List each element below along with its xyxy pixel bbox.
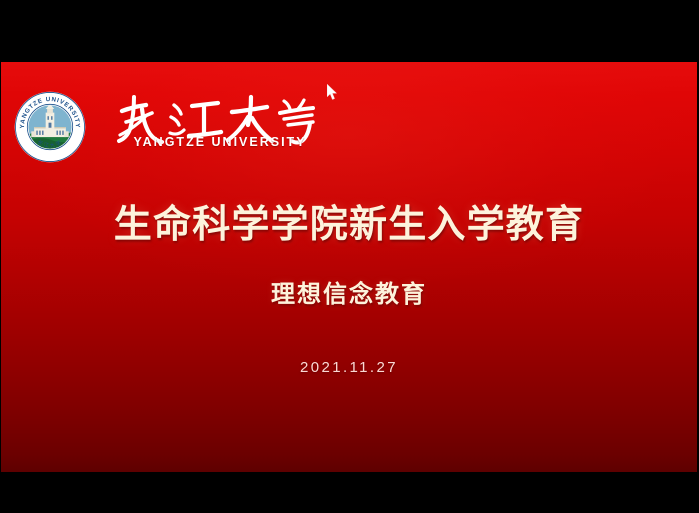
sub-title: 理想信念教育 — [1, 280, 697, 310]
brand-lockup: YANGTZE UNIVERSITY 长江大学 — [14, 91, 320, 163]
slide-viewport: YANGTZE UNIVERSITY 长江大学 — [0, 0, 699, 513]
presentation-slide[interactable]: YANGTZE UNIVERSITY 长江大学 — [1, 62, 697, 472]
wordmark: YANGTZE UNIVERSITY — [112, 91, 320, 163]
university-seal-icon: YANGTZE UNIVERSITY 长江大学 — [14, 91, 86, 163]
slide-date: 2021.11.27 — [1, 359, 697, 377]
main-title: 生命科学学院新生入学教育 — [1, 202, 697, 248]
wordmark-english-label: YANGTZE UNIVERSITY — [132, 135, 308, 149]
